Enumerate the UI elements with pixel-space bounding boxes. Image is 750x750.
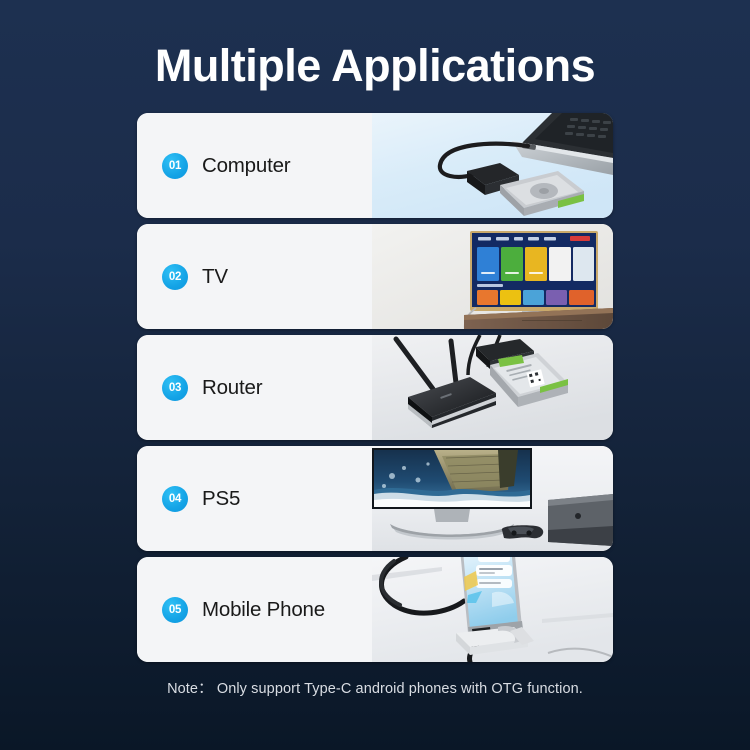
card-text-panel: 03 Router — [137, 335, 372, 440]
status-badge: 02 — [162, 264, 188, 290]
list-item[interactable]: 05 Mobile Phone — [137, 557, 613, 662]
status-badge: 03 — [162, 375, 188, 401]
list-item-label: Mobile Phone — [202, 598, 325, 622]
card-text-panel: 04 PS5 — [137, 446, 372, 551]
list-item-label: Router — [202, 376, 262, 400]
phone-on-stand-with-cable-photo — [372, 557, 613, 662]
application-list: 01 Computer — [137, 113, 613, 662]
list-item[interactable]: 02 TV — [137, 224, 613, 329]
status-badge: 04 — [162, 486, 188, 512]
list-item[interactable]: 01 Computer — [137, 113, 613, 218]
page-title: Multiple Applications — [0, 0, 750, 89]
list-item-label: PS5 — [202, 487, 240, 511]
card-text-panel: 01 Computer — [137, 113, 372, 218]
list-item-label: Computer — [202, 154, 290, 178]
list-item[interactable]: 03 Router — [137, 335, 613, 440]
monitor-and-game-console-photo — [372, 446, 613, 551]
card-text-panel: 02 TV — [137, 224, 372, 329]
note-text: Note： Only support Type-C android phones… — [0, 677, 750, 698]
smart-tv-on-stand-photo — [372, 224, 613, 329]
laptop-with-sata-adapter-photo — [372, 113, 613, 218]
status-badge: 05 — [162, 597, 188, 623]
status-badge: 01 — [162, 153, 188, 179]
router-with-hard-drive-photo — [372, 335, 613, 440]
card-text-panel: 05 Mobile Phone — [137, 557, 372, 662]
list-item[interactable]: 04 PS5 — [137, 446, 613, 551]
list-item-label: TV — [202, 265, 228, 289]
